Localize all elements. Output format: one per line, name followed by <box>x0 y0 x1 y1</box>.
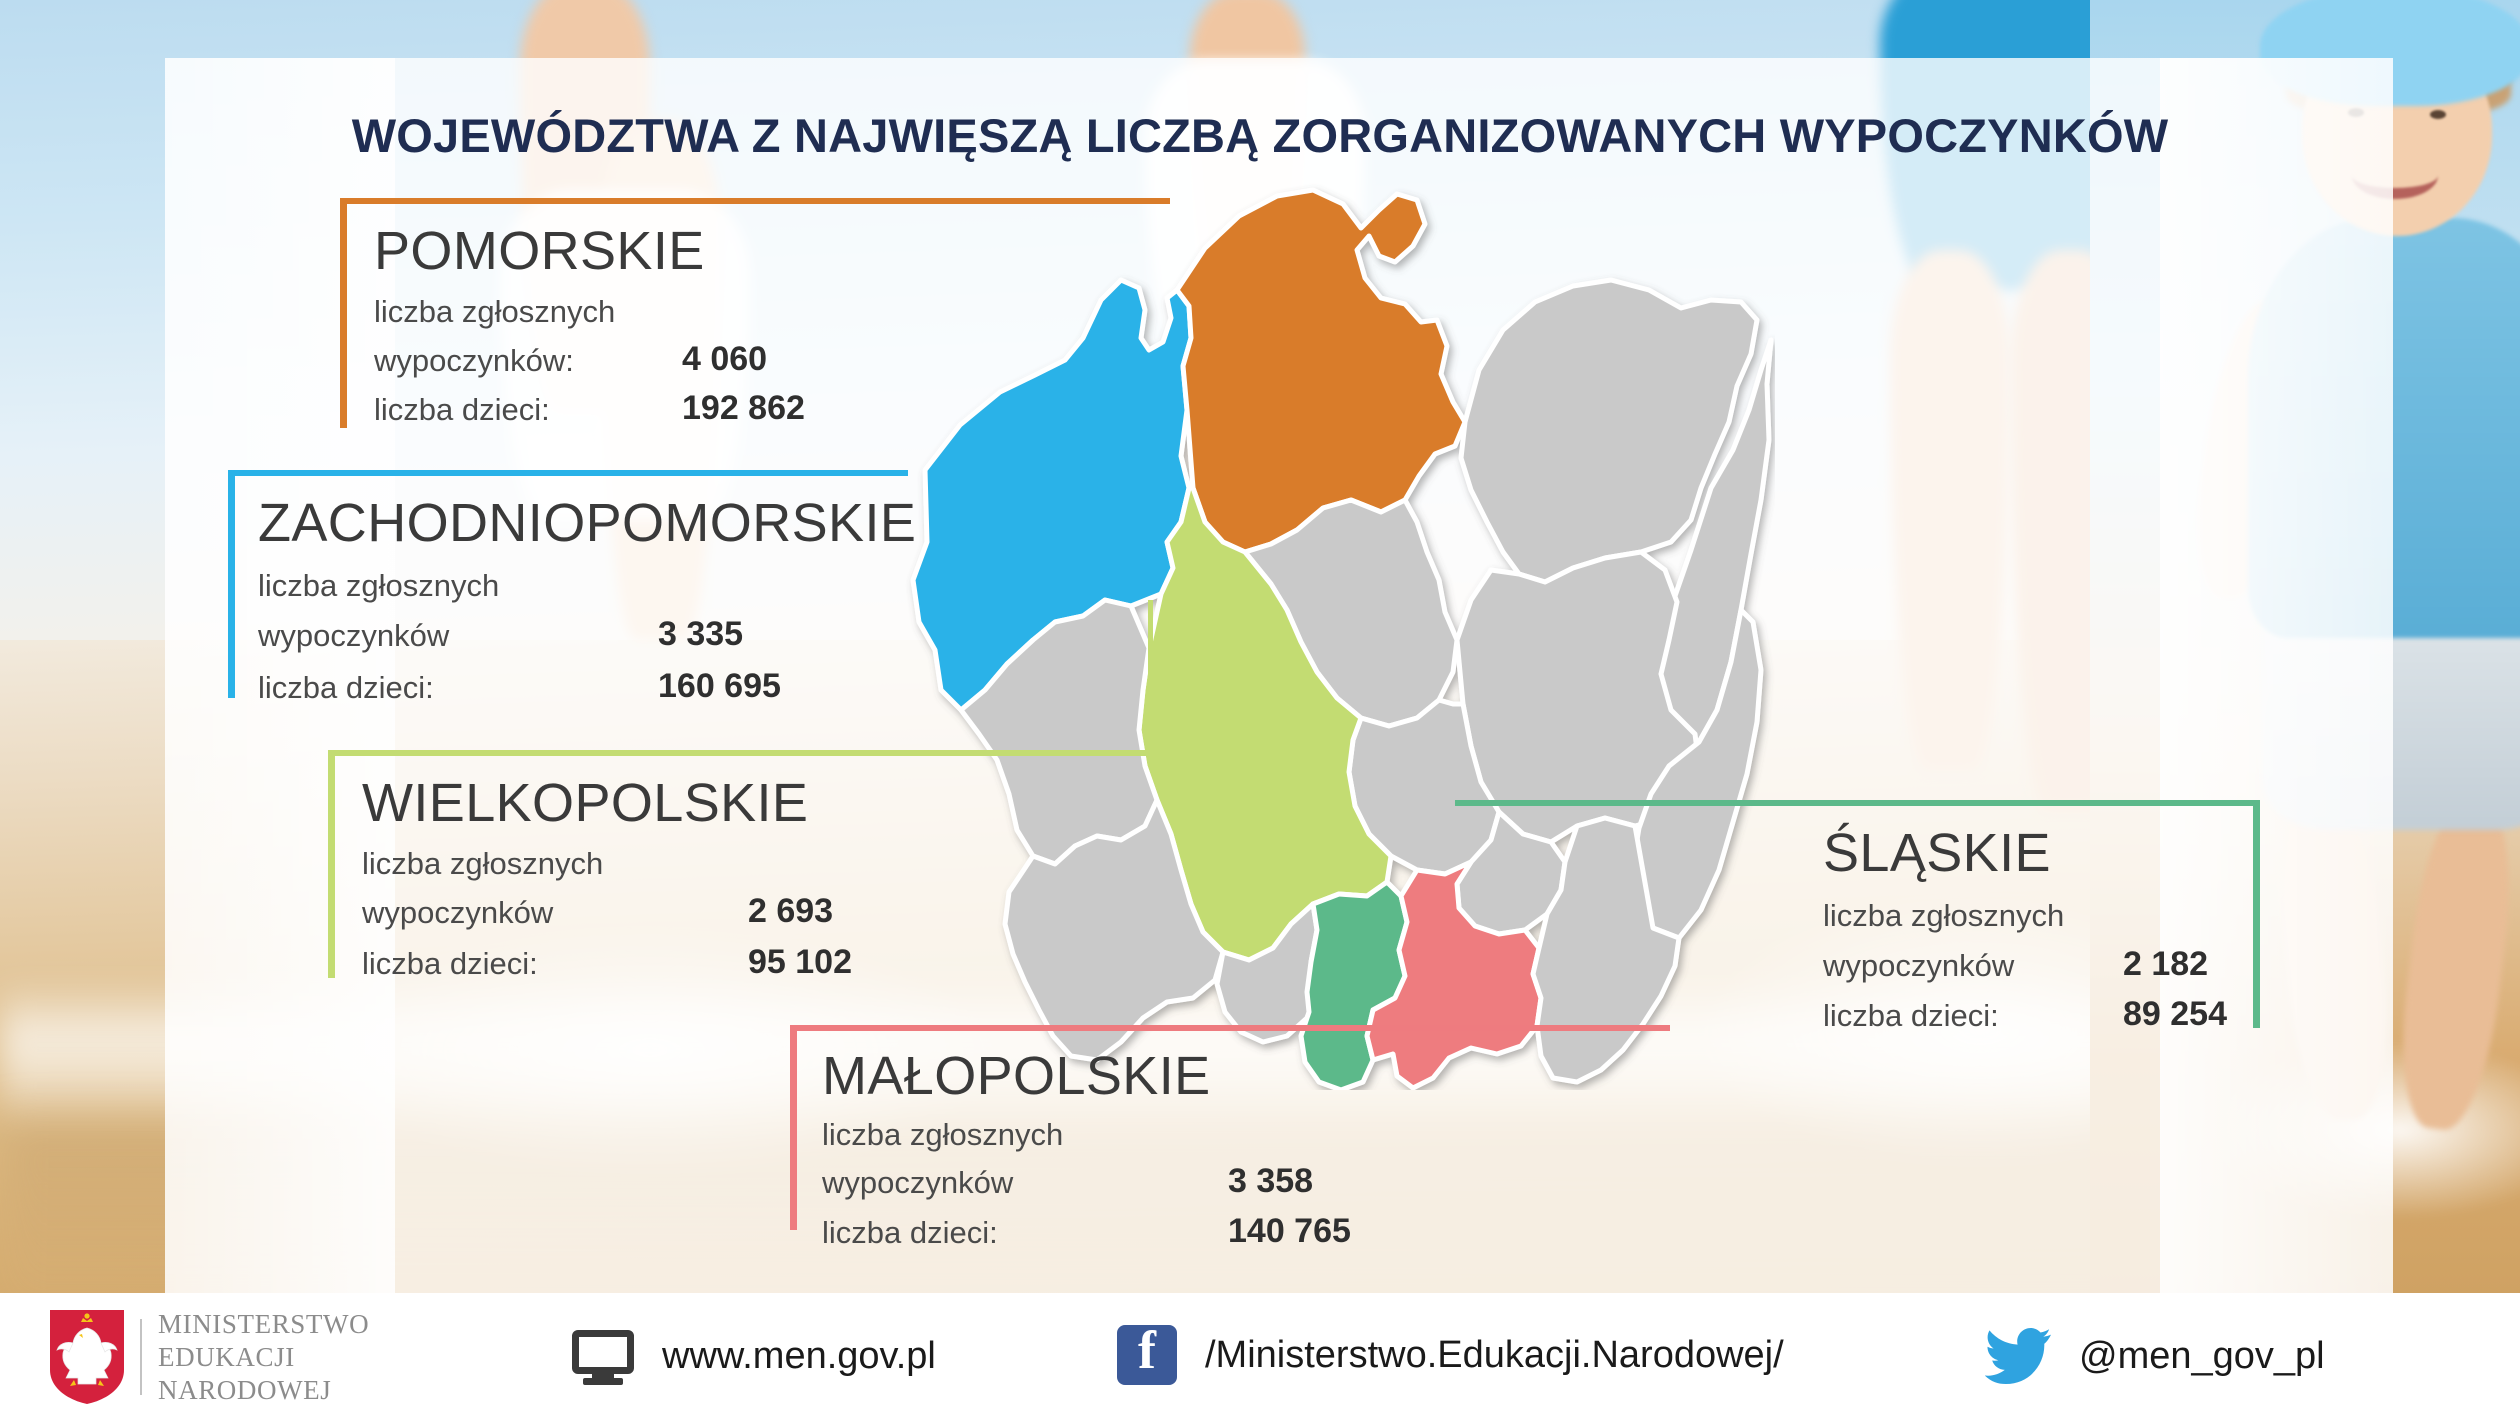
facebook-handle: /Ministerstwo.Edukacji.Narodowej/ <box>1205 1334 1784 1377</box>
footer-twitter[interactable]: @men_gov_pl <box>1985 1328 2325 1384</box>
region-label-line1-slaskie: liczba zgłosznych <box>1823 898 2064 934</box>
content-panel-fade-right <box>2160 58 2393 1293</box>
region-value-wypoczynki-slaskie: 2 182 <box>2123 945 2208 984</box>
region-value-children-malopolskie: 140 765 <box>1228 1212 1351 1251</box>
region-value-children-slaskie: 89 254 <box>2123 995 2227 1034</box>
twitter-icon <box>1985 1328 2051 1384</box>
callout-rule-left-malopolskie <box>790 1025 797 1230</box>
callout-rule-top-zachodniopomorskie <box>228 470 908 476</box>
map-region-pomorskie <box>1177 190 1465 552</box>
region-name-wielkopolskie: WIELKOPOLSKIE <box>362 772 808 834</box>
region-label-line2-malopolskie: wypoczynków <box>822 1165 1013 1201</box>
callout-rule-top-slaskie <box>1455 800 2260 806</box>
callout-rule-left-pomorskie <box>340 198 347 428</box>
region-name-slaskie: ŚLĄSKIE <box>1823 822 2051 884</box>
twitter-handle: @men_gov_pl <box>2079 1335 2325 1378</box>
region-value-children-pomorskie: 192 862 <box>682 389 805 428</box>
region-label-children-malopolskie: liczba dzieci: <box>822 1215 998 1251</box>
region-value-wypoczynki-wielkopolskie: 2 693 <box>748 892 833 931</box>
callout-rule-right-slaskie <box>2253 800 2260 1028</box>
region-label-line1-pomorskie: liczba zgłosznych <box>374 294 615 330</box>
footer-website[interactable]: www.men.gov.pl <box>572 1330 936 1382</box>
footer-facebook[interactable]: /Ministerstwo.Edukacji.Narodowej/ <box>1117 1325 1784 1385</box>
region-label-children-zachodniopomorskie: liczba dzieci: <box>258 670 434 706</box>
ministry-name: MINISTERSTWO EDUKACJI NARODOWEJ <box>158 1308 369 1407</box>
region-value-children-wielkopolskie: 95 102 <box>748 943 852 982</box>
region-label-line2-pomorskie: wypoczynków: <box>374 343 574 379</box>
region-label-line1-malopolskie: liczba zgłosznych <box>822 1117 1063 1153</box>
connector-wielkopolskie-vert <box>1148 600 1153 756</box>
infographic-root: WOJEWÓDZTWA Z NAJWIĘSZĄ LICZBĄ ZORGANIZO… <box>0 0 2520 1417</box>
region-value-wypoczynki-zachodniopomorskie: 3 335 <box>658 615 743 654</box>
polish-eagle-coat-of-arms-icon <box>48 1308 126 1406</box>
men-logo[interactable]: MINISTERSTWO EDUKACJI NARODOWEJ <box>48 1308 369 1407</box>
region-label-line1-wielkopolskie: liczba zgłosznych <box>362 846 603 882</box>
callout-rule-top-pomorskie <box>340 198 1170 204</box>
monitor-icon <box>572 1330 634 1382</box>
region-label-line2-slaskie: wypoczynków <box>1823 948 2014 984</box>
region-label-line2-wielkopolskie: wypoczynków <box>362 895 553 931</box>
callout-rule-top-malopolskie <box>790 1025 1670 1031</box>
callout-pomorskie: POMORSKIE liczba zgłosznych wypoczynków:… <box>340 198 1170 428</box>
monitor-screen <box>572 1330 634 1374</box>
region-label-children-pomorskie: liczba dzieci: <box>374 392 550 428</box>
callout-malopolskie: MAŁOPOLSKIE liczba zgłosznych wypoczynkó… <box>790 1025 1670 1245</box>
callout-wielkopolskie: WIELKOPOLSKIE liczba zgłosznych wypoczyn… <box>328 750 1148 978</box>
ministry-line-3: NARODOWEJ <box>158 1374 369 1407</box>
page-title: WOJEWÓDZTWA Z NAJWIĘSZĄ LICZBĄ ZORGANIZO… <box>0 108 2520 163</box>
region-label-children-slaskie: liczba dzieci: <box>1823 998 1999 1034</box>
region-name-zachodniopomorskie: ZACHODNIOPOMORSKIE <box>258 492 916 554</box>
callout-rule-left-wielkopolskie <box>328 750 335 978</box>
region-label-children-wielkopolskie: liczba dzieci: <box>362 946 538 982</box>
region-label-line1-zachodniopomorskie: liczba zgłosznych <box>258 568 499 604</box>
website-url: www.men.gov.pl <box>662 1335 936 1378</box>
callout-rule-top-wielkopolskie <box>328 750 1148 756</box>
callout-rule-left-zachodniopomorskie <box>228 470 235 698</box>
callout-slaskie: ŚLĄSKIE liczba zgłosznych wypoczynków 2 … <box>1455 800 2260 1028</box>
ministry-line-1: MINISTERSTWO <box>158 1308 369 1341</box>
monitor-foot <box>583 1378 623 1385</box>
logo-divider <box>140 1319 142 1395</box>
region-name-pomorskie: POMORSKIE <box>374 220 705 282</box>
callout-zachodniopomorskie: ZACHODNIOPOMORSKIE liczba zgłosznych wyp… <box>228 470 908 698</box>
region-value-wypoczynki-pomorskie: 4 060 <box>682 340 767 379</box>
facebook-icon <box>1117 1325 1177 1385</box>
region-label-line2-zachodniopomorskie: wypoczynków <box>258 618 449 654</box>
region-name-malopolskie: MAŁOPOLSKIE <box>822 1045 1211 1107</box>
ministry-line-2: EDUKACJI <box>158 1341 369 1374</box>
region-value-children-zachodniopomorskie: 160 695 <box>658 667 781 706</box>
region-value-wypoczynki-malopolskie: 3 358 <box>1228 1162 1313 1201</box>
